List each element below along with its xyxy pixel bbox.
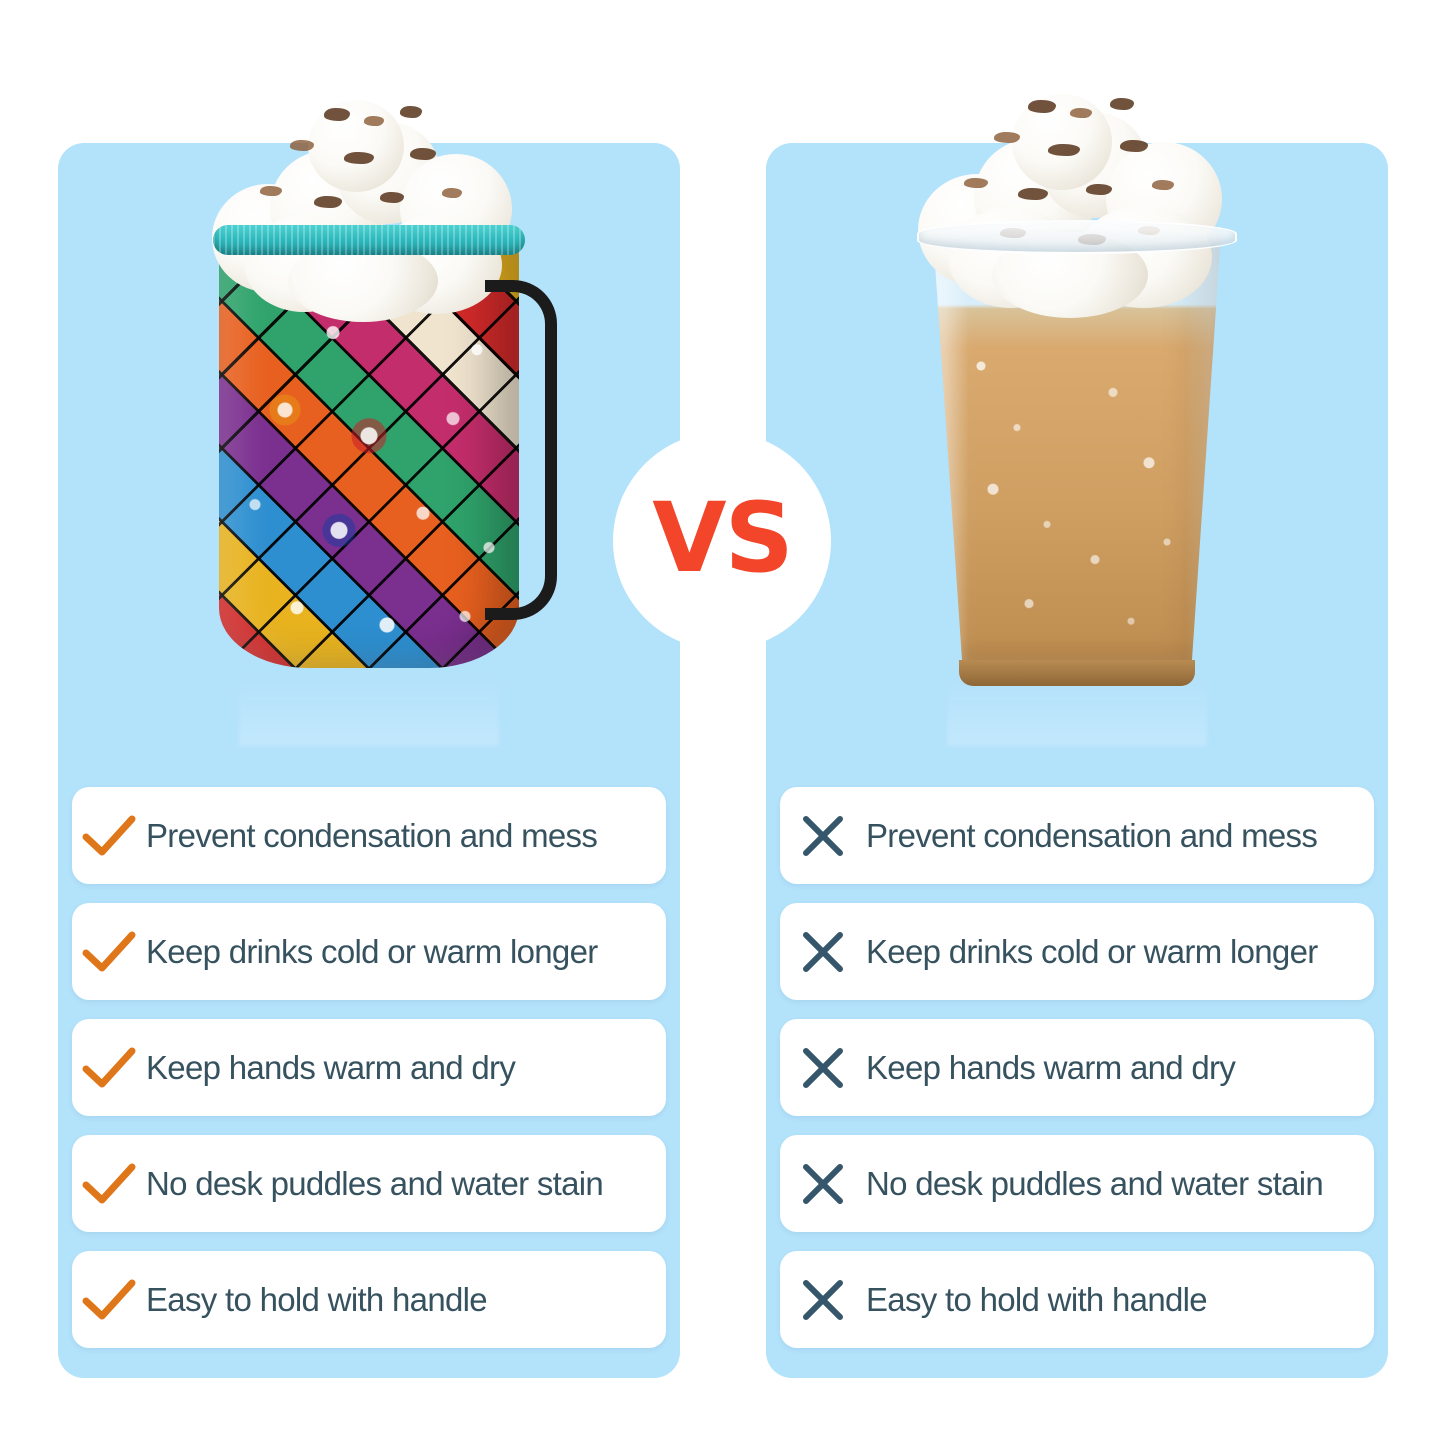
check-icon — [72, 814, 146, 858]
feature-row[interactable]: Keep drinks cold or warm longer — [72, 903, 666, 1000]
product-image-without-sleeve — [766, 48, 1388, 768]
feature-row[interactable]: No desk puddles and water stain — [780, 1135, 1374, 1232]
feature-row[interactable]: Keep hands warm and dry — [780, 1019, 1374, 1116]
cross-icon — [780, 1045, 866, 1091]
check-icon — [72, 1162, 146, 1206]
feature-row[interactable]: Prevent condensation and mess — [72, 787, 666, 884]
feature-label: Keep hands warm and dry — [866, 1049, 1235, 1087]
cup-reflection — [947, 676, 1207, 746]
product-image-with-sleeve — [58, 48, 680, 768]
feature-list-without-sleeve: Prevent condensation and mess Keep drink… — [780, 787, 1374, 1348]
cup-reflection — [239, 676, 499, 746]
cross-icon — [780, 929, 866, 975]
feature-label: Easy to hold with handle — [866, 1281, 1207, 1319]
feature-list-with-sleeve: Prevent condensation and mess Keep drink… — [72, 787, 666, 1348]
feature-label: Keep drinks cold or warm longer — [146, 933, 598, 971]
feature-label: Keep hands warm and dry — [146, 1049, 515, 1087]
feature-row[interactable]: Keep hands warm and dry — [72, 1019, 666, 1116]
whipped-cream-icon — [912, 94, 1242, 309]
panel-with-sleeve: Prevent condensation and mess Keep drink… — [58, 143, 680, 1378]
sleeve-handle — [485, 280, 557, 620]
feature-label: No desk puddles and water stain — [146, 1165, 603, 1203]
feature-row[interactable]: Easy to hold with handle — [72, 1251, 666, 1348]
comparison-infographic: Prevent condensation and mess Keep drink… — [0, 0, 1445, 1445]
check-icon — [72, 1278, 146, 1322]
vs-label: VS — [652, 490, 791, 586]
cross-icon — [780, 1277, 866, 1323]
cup-base — [959, 660, 1195, 686]
check-icon — [72, 1046, 146, 1090]
vs-badge: VS — [613, 432, 831, 650]
feature-label: Prevent condensation and mess — [146, 817, 597, 855]
feature-label: Prevent condensation and mess — [866, 817, 1317, 855]
feature-label: Easy to hold with handle — [146, 1281, 487, 1319]
cross-icon — [780, 813, 866, 859]
feature-row[interactable]: Easy to hold with handle — [780, 1251, 1374, 1348]
sleeve-trim — [213, 225, 525, 255]
check-icon — [72, 930, 146, 974]
feature-row[interactable]: Prevent condensation and mess — [780, 787, 1374, 884]
panel-without-sleeve: Prevent condensation and mess Keep drink… — [766, 143, 1388, 1378]
feature-label: Keep drinks cold or warm longer — [866, 933, 1318, 971]
feature-label: No desk puddles and water stain — [866, 1165, 1323, 1203]
feature-row[interactable]: No desk puddles and water stain — [72, 1135, 666, 1232]
cross-icon — [780, 1161, 866, 1207]
feature-row[interactable]: Keep drinks cold or warm longer — [780, 903, 1374, 1000]
cup-rim — [917, 220, 1237, 254]
